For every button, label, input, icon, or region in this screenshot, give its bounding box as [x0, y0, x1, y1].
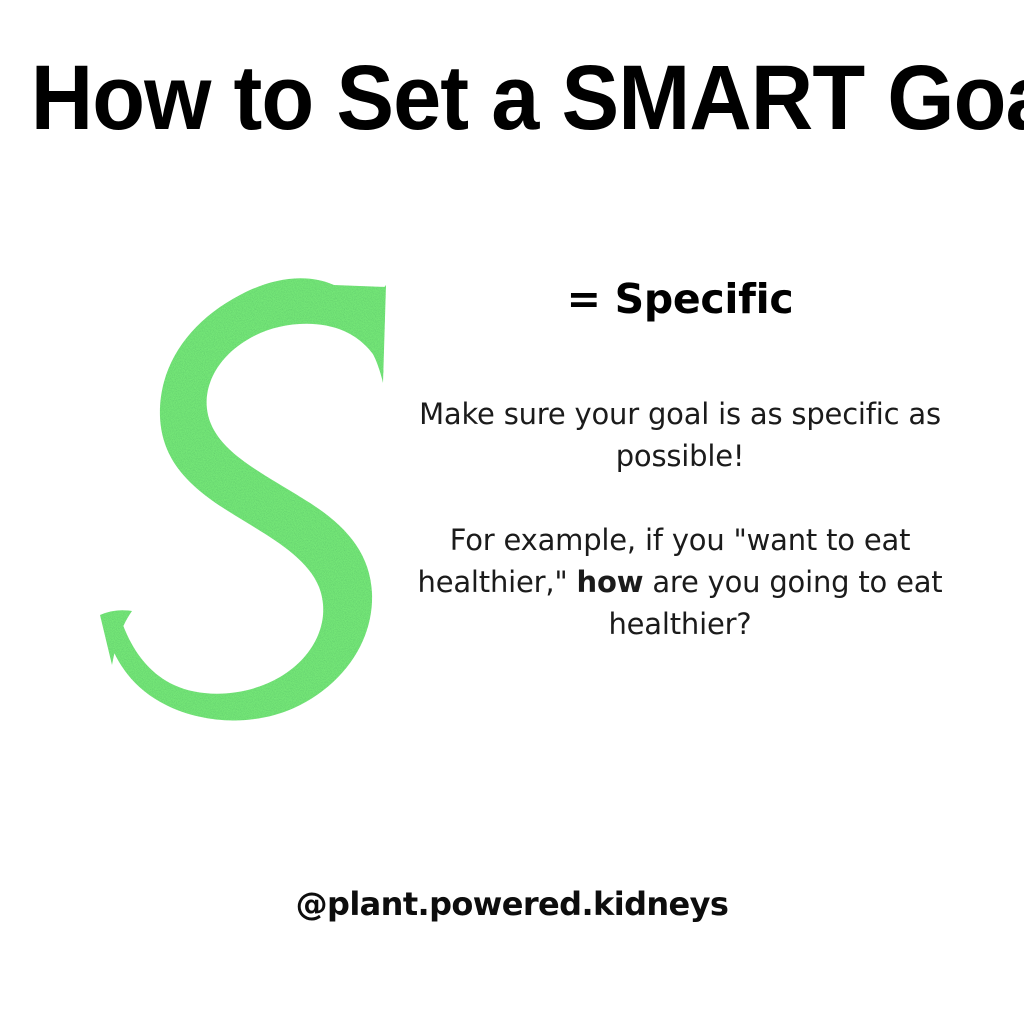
glitter-letter-s	[70, 265, 400, 745]
specific-content-block: = Specific Make sure your goal is as spe…	[400, 265, 960, 645]
poster-canvas: How to Set a SMART Goal	[0, 0, 1024, 1024]
paragraph-1: Make sure your goal is as specific as po…	[400, 393, 960, 477]
social-handle: @plant.powered.kidneys	[0, 885, 1024, 923]
paragraph-2-suffix: are you going to eat healthier?	[608, 565, 942, 641]
equals-specific-heading: = Specific	[400, 265, 960, 323]
page-title: How to Set a SMART Goal	[31, 52, 994, 144]
body-text: Make sure your goal is as specific as po…	[400, 393, 960, 645]
paragraph-2-emphasis: how	[577, 565, 644, 599]
paragraph-2: For example, if you "want to eat healthi…	[400, 519, 960, 645]
